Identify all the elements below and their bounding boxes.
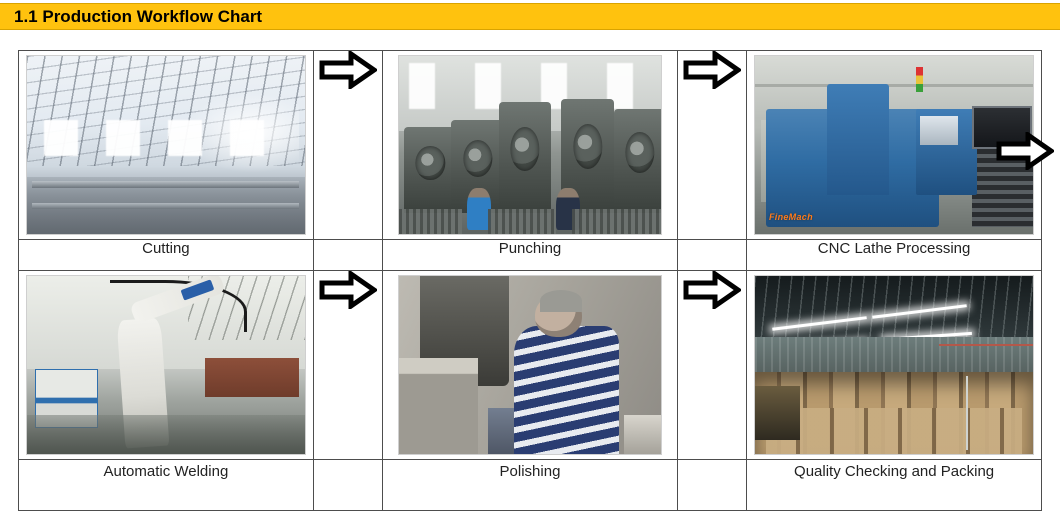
step-image-cell-punching: [383, 51, 678, 240]
step-label-cell-punching: Punching: [383, 240, 678, 271]
step-label: Quality Checking and Packing: [747, 460, 1041, 482]
photo-cnc-lathe: FineMach: [754, 55, 1034, 235]
arrow-cell-1: [313, 51, 382, 240]
step-label: Cutting: [19, 240, 313, 259]
arrow-cell-4: [677, 271, 746, 460]
step-label: Automatic Welding: [19, 460, 313, 482]
right-arrow-icon: [319, 271, 377, 309]
arrow-spacer-4: [677, 460, 746, 511]
photo-polishing: [398, 275, 662, 455]
workflow-row-1-labels: Cutting Punching CNC Lathe Processing: [19, 240, 1042, 271]
step-label: Polishing: [383, 460, 677, 482]
arrow-spacer-3: [313, 460, 382, 511]
workflow-row-2-labels: Automatic Welding Polishing Quality Chec…: [19, 460, 1042, 511]
step-image-cell-quality: [747, 271, 1042, 460]
photo-quality-packing: [754, 275, 1034, 455]
right-arrow-icon: [683, 51, 741, 89]
page-title: 1.1 Production Workflow Chart: [0, 8, 262, 25]
photo-cutting: [26, 55, 306, 235]
step-label-cell-welding: Automatic Welding: [19, 460, 314, 511]
workflow-row-2-images: [19, 271, 1042, 460]
step-label-cell-polishing: Polishing: [383, 460, 678, 511]
step-image-cell-cutting: [19, 51, 314, 240]
step-label: CNC Lathe Processing: [747, 240, 1041, 259]
arrow-cell-3: [313, 271, 382, 460]
photo-automatic-welding: [26, 275, 306, 455]
arrow-cell-2: [677, 51, 746, 240]
step-label-cell-cutting: Cutting: [19, 240, 314, 271]
arrow-spacer-2: [677, 240, 746, 271]
step-label-cell-cnc: CNC Lathe Processing: [747, 240, 1042, 271]
right-arrow-icon: [996, 132, 1060, 172]
machine-brand-label: FineMach: [769, 212, 813, 222]
section-header-banner: 1.1 Production Workflow Chart: [0, 3, 1060, 30]
workflow-row-1-images: FineMach: [19, 51, 1042, 240]
step-image-cell-polishing: [383, 271, 678, 460]
photo-punching: [398, 55, 662, 235]
arrow-spacer-1: [313, 240, 382, 271]
right-arrow-icon: [319, 51, 377, 89]
step-label: Punching: [383, 240, 677, 259]
production-workflow-table: FineMach Cutting Punching CNC Lathe Proc…: [18, 50, 1042, 511]
step-label-cell-quality: Quality Checking and Packing: [747, 460, 1042, 511]
step-image-cell-welding: [19, 271, 314, 460]
right-arrow-icon: [683, 271, 741, 309]
